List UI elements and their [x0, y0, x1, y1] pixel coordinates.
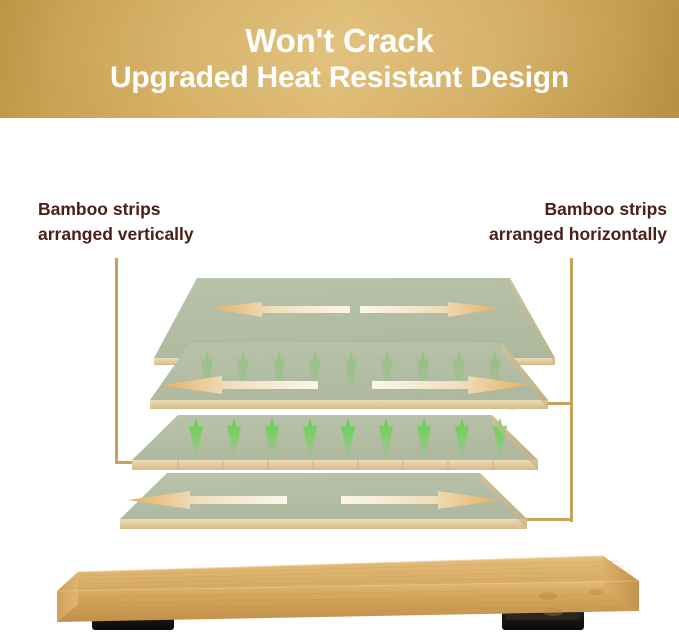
callout-left-line2: arranged vertically [38, 222, 194, 247]
callout-right-line1: Bamboo strips [489, 197, 667, 222]
diagram-layer-3 [132, 415, 538, 470]
diagram-layer-2 [150, 343, 548, 409]
exploded-layer-diagram [0, 255, 679, 545]
diagram-layer-4 [120, 473, 527, 529]
banner-title-primary: Won't Crack [0, 22, 679, 60]
banner-title-secondary: Upgraded Heat Resistant Design [0, 60, 679, 95]
callout-left-line1: Bamboo strips [38, 197, 194, 222]
callout-right-line2: arranged horizontally [489, 222, 667, 247]
header-banner: Won't Crack Upgraded Heat Resistant Desi… [0, 0, 679, 118]
bamboo-cutting-board [0, 548, 679, 640]
callout-label-left: Bamboo strips arranged vertically [38, 197, 194, 247]
callout-label-right: Bamboo strips arranged horizontally [489, 197, 667, 247]
